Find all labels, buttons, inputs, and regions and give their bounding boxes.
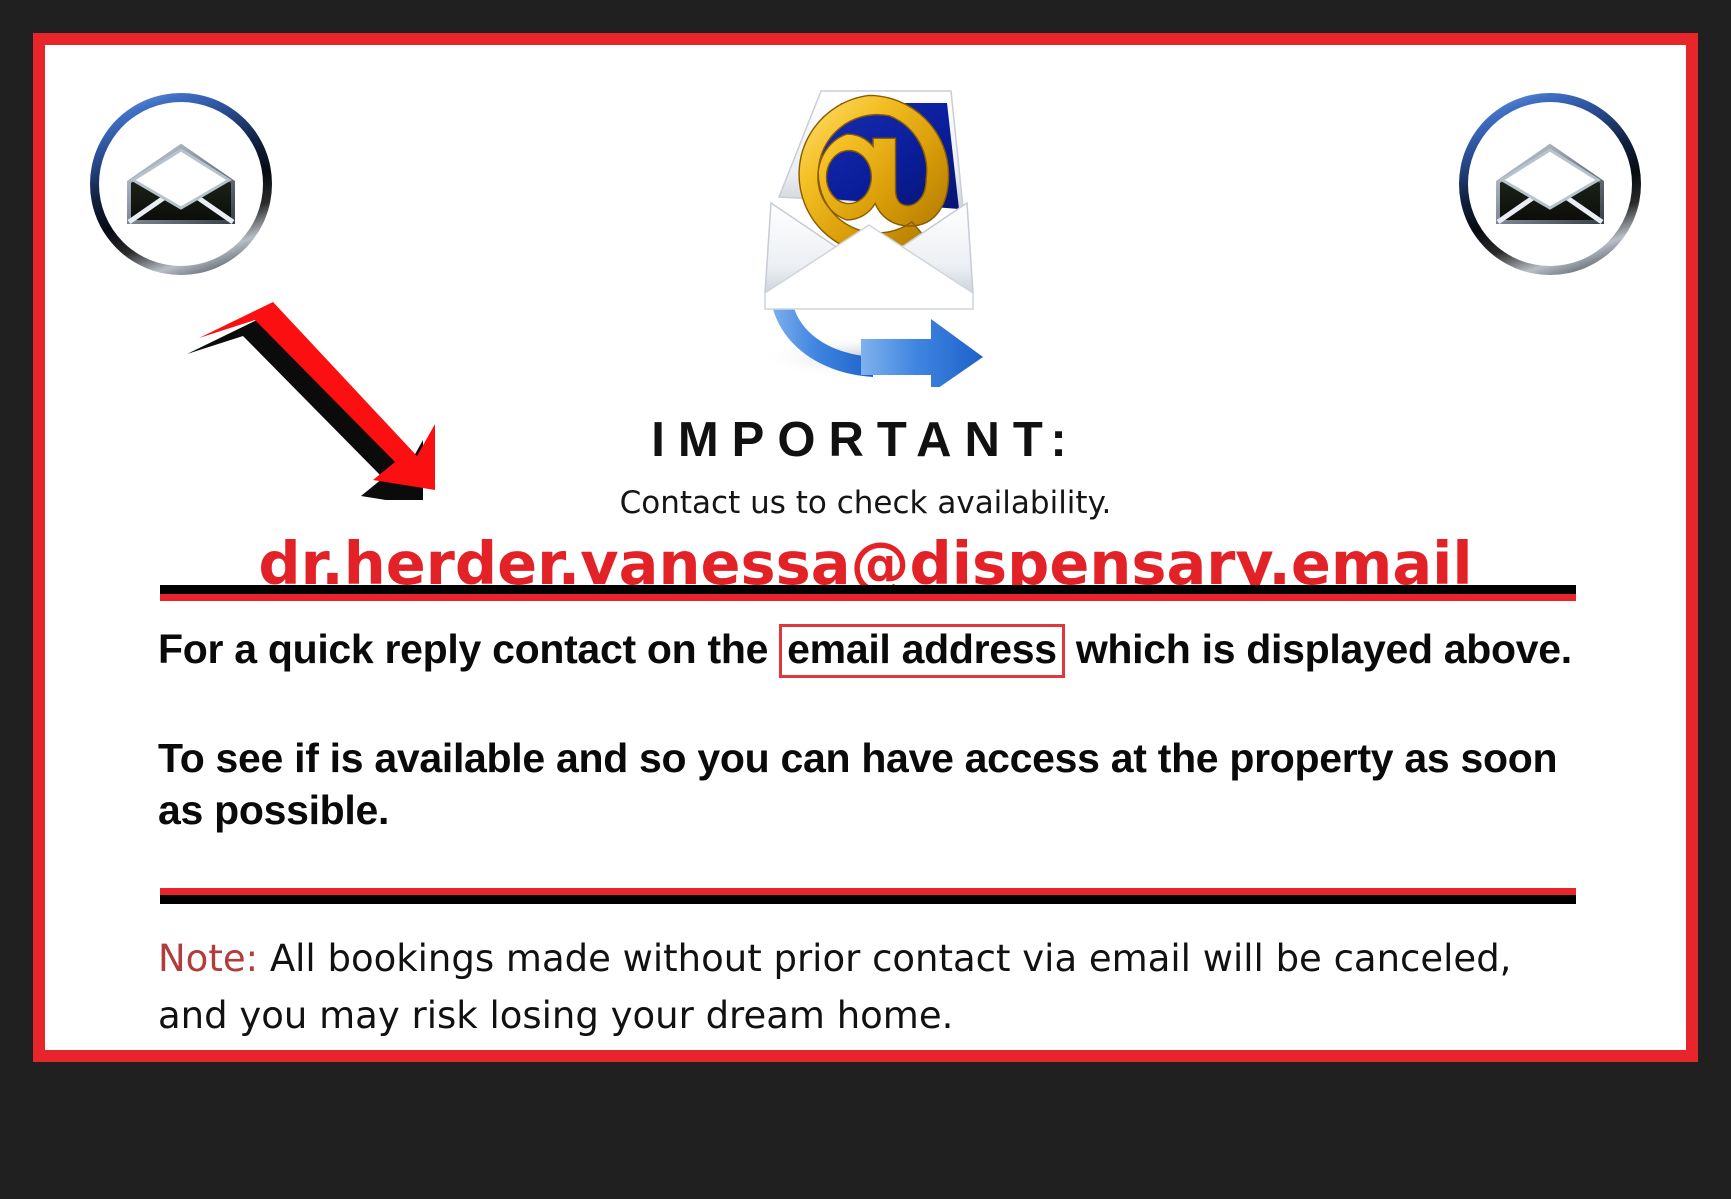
- envelope-badge-right: [1459, 93, 1641, 275]
- envelope-badge-left: [90, 93, 272, 275]
- page-title: IMPORTANT:: [45, 416, 1686, 465]
- paragraph-reply: For a quick reply contact on the email a…: [158, 623, 1576, 678]
- divider-black-bar: [160, 895, 1576, 904]
- divider-black-bar: [160, 585, 1576, 594]
- divider-red-bar: [160, 594, 1576, 601]
- envelope-icon: [123, 142, 239, 226]
- email-address-highlight: email address: [779, 624, 1065, 678]
- note-label: Note:: [158, 937, 258, 980]
- body-text: For a quick reply contact on the email a…: [158, 623, 1576, 837]
- paragraph-1-tail: which is displayed above.: [1065, 626, 1572, 672]
- envelope-icon: [1492, 142, 1608, 226]
- divider-top: [160, 585, 1576, 602]
- headline-block: IMPORTANT: Contact us to check availabil…: [45, 416, 1686, 597]
- paragraph-1-lead: For a quick reply contact on the: [158, 626, 779, 672]
- red-border-frame: IMPORTANT: Contact us to check availabil…: [33, 33, 1698, 1062]
- paragraph-availability: To see if is available and so you can ha…: [158, 732, 1576, 837]
- white-card: IMPORTANT: Contact us to check availabil…: [45, 45, 1686, 1050]
- subtitle: Contact us to check availability.: [45, 488, 1686, 519]
- divider-red-bar: [160, 888, 1576, 895]
- poster-canvas: IMPORTANT: Contact us to check availabil…: [0, 0, 1731, 1199]
- note-text: Note: All bookings made without prior co…: [158, 930, 1576, 1045]
- divider-bottom: [160, 888, 1576, 905]
- at-symbol-envelope-icon: [701, 57, 1031, 387]
- note-body: All bookings made without prior contact …: [158, 937, 1511, 1037]
